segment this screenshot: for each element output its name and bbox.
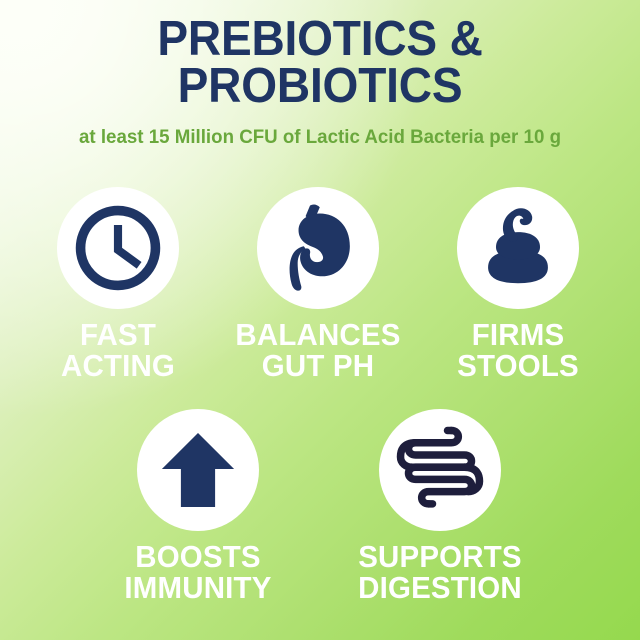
feature-label-line-1: FAST — [33, 320, 204, 351]
feature-label-line-1: BALANCES — [233, 320, 404, 351]
icon-circle — [257, 187, 379, 309]
icon-circle — [457, 187, 579, 309]
feature-label: FIRMS STOOLS — [433, 309, 604, 381]
up-arrow-icon — [160, 431, 236, 509]
feature-fast-acting: FAST ACTING — [28, 187, 208, 381]
feature-firms-stools: FIRMS STOOLS — [428, 187, 608, 381]
feature-label-line-1: BOOSTS — [113, 542, 284, 573]
feature-label: FAST ACTING — [33, 309, 204, 381]
feature-label: BALANCES GUT PH — [233, 309, 404, 381]
prebiotics-probiotics-infographic: PREBIOTICS & PROBIOTICS at least 15 Mill… — [0, 0, 640, 640]
feature-label-line-2: GUT PH — [233, 351, 404, 382]
feature-label-line-1: SUPPORTS — [355, 542, 526, 573]
feature-label-line-2: STOOLS — [433, 351, 604, 382]
feature-label-line-2: IMMUNITY — [113, 573, 284, 604]
poster-header: PREBIOTICS & PROBIOTICS at least 15 Mill… — [0, 0, 640, 149]
feature-balances-gut-ph: BALANCES GUT PH — [228, 187, 408, 381]
stool-icon — [472, 204, 564, 292]
feature-label: BOOSTS IMMUNITY — [113, 531, 284, 603]
title-line-2: PROBIOTICS — [19, 63, 621, 110]
feature-label: SUPPORTS DIGESTION — [355, 531, 526, 603]
title-line-1: PREBIOTICS & — [19, 16, 621, 63]
stomach-icon — [273, 202, 363, 294]
feature-label-line-2: DIGESTION — [355, 573, 526, 604]
feature-label-line-1: FIRMS — [433, 320, 604, 351]
feature-supports-digestion: SUPPORTS DIGESTION — [350, 409, 530, 603]
clock-icon — [70, 200, 166, 296]
feature-boosts-immunity: BOOSTS IMMUNITY — [108, 409, 288, 603]
intestine-icon — [393, 423, 487, 517]
feature-label-line-2: ACTING — [33, 351, 204, 382]
page-title: PREBIOTICS & PROBIOTICS — [19, 0, 621, 110]
icon-circle — [57, 187, 179, 309]
icon-circle — [379, 409, 501, 531]
subtitle: at least 15 Million CFU of Lactic Acid B… — [13, 110, 627, 149]
icon-circle — [137, 409, 259, 531]
